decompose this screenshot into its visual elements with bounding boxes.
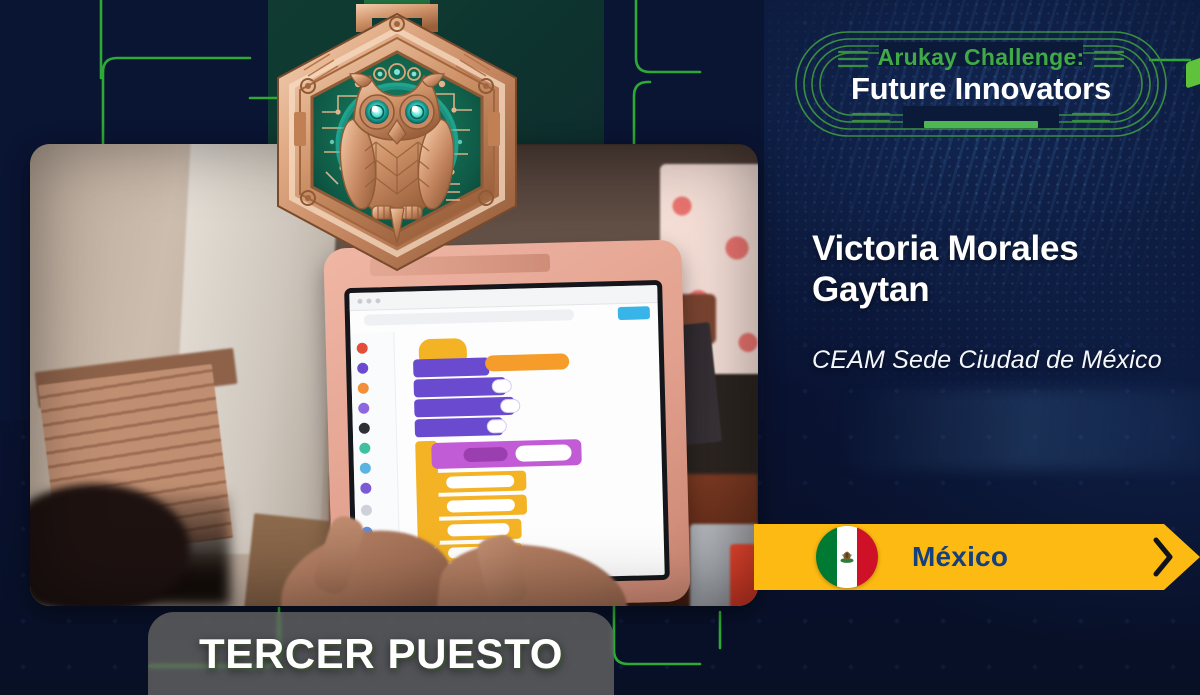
chevron-right-icon[interactable] <box>1152 537 1174 577</box>
place-banner: TERCER PUESTO <box>148 612 614 695</box>
logo-title-line2: Future Innovators <box>793 71 1169 107</box>
slide-root: Arukay Challenge: Future Innovators <box>0 0 1200 695</box>
logo-underline <box>924 121 1038 128</box>
mexico-flag-icon <box>816 526 878 588</box>
flag-eagle-emblem <box>839 550 856 564</box>
country-banner[interactable]: México <box>754 524 1200 590</box>
brand-logo: Arukay Challenge: Future Innovators <box>793 28 1169 140</box>
background-glow-streak <box>840 390 1200 470</box>
place-label: TERCER PUESTO <box>199 630 563 678</box>
winner-name: Victoria Morales Gaytan <box>812 228 1152 310</box>
logo-title-line1: Arukay Challenge: <box>793 44 1169 70</box>
winner-school: CEAM Sede Ciudad de México <box>812 344 1194 376</box>
country-label: México <box>912 541 1008 573</box>
owl-circuit-medal-icon <box>246 0 548 292</box>
right-edge-green-accent <box>1186 57 1200 88</box>
logo-text-block: Arukay Challenge: Future Innovators <box>793 44 1169 107</box>
